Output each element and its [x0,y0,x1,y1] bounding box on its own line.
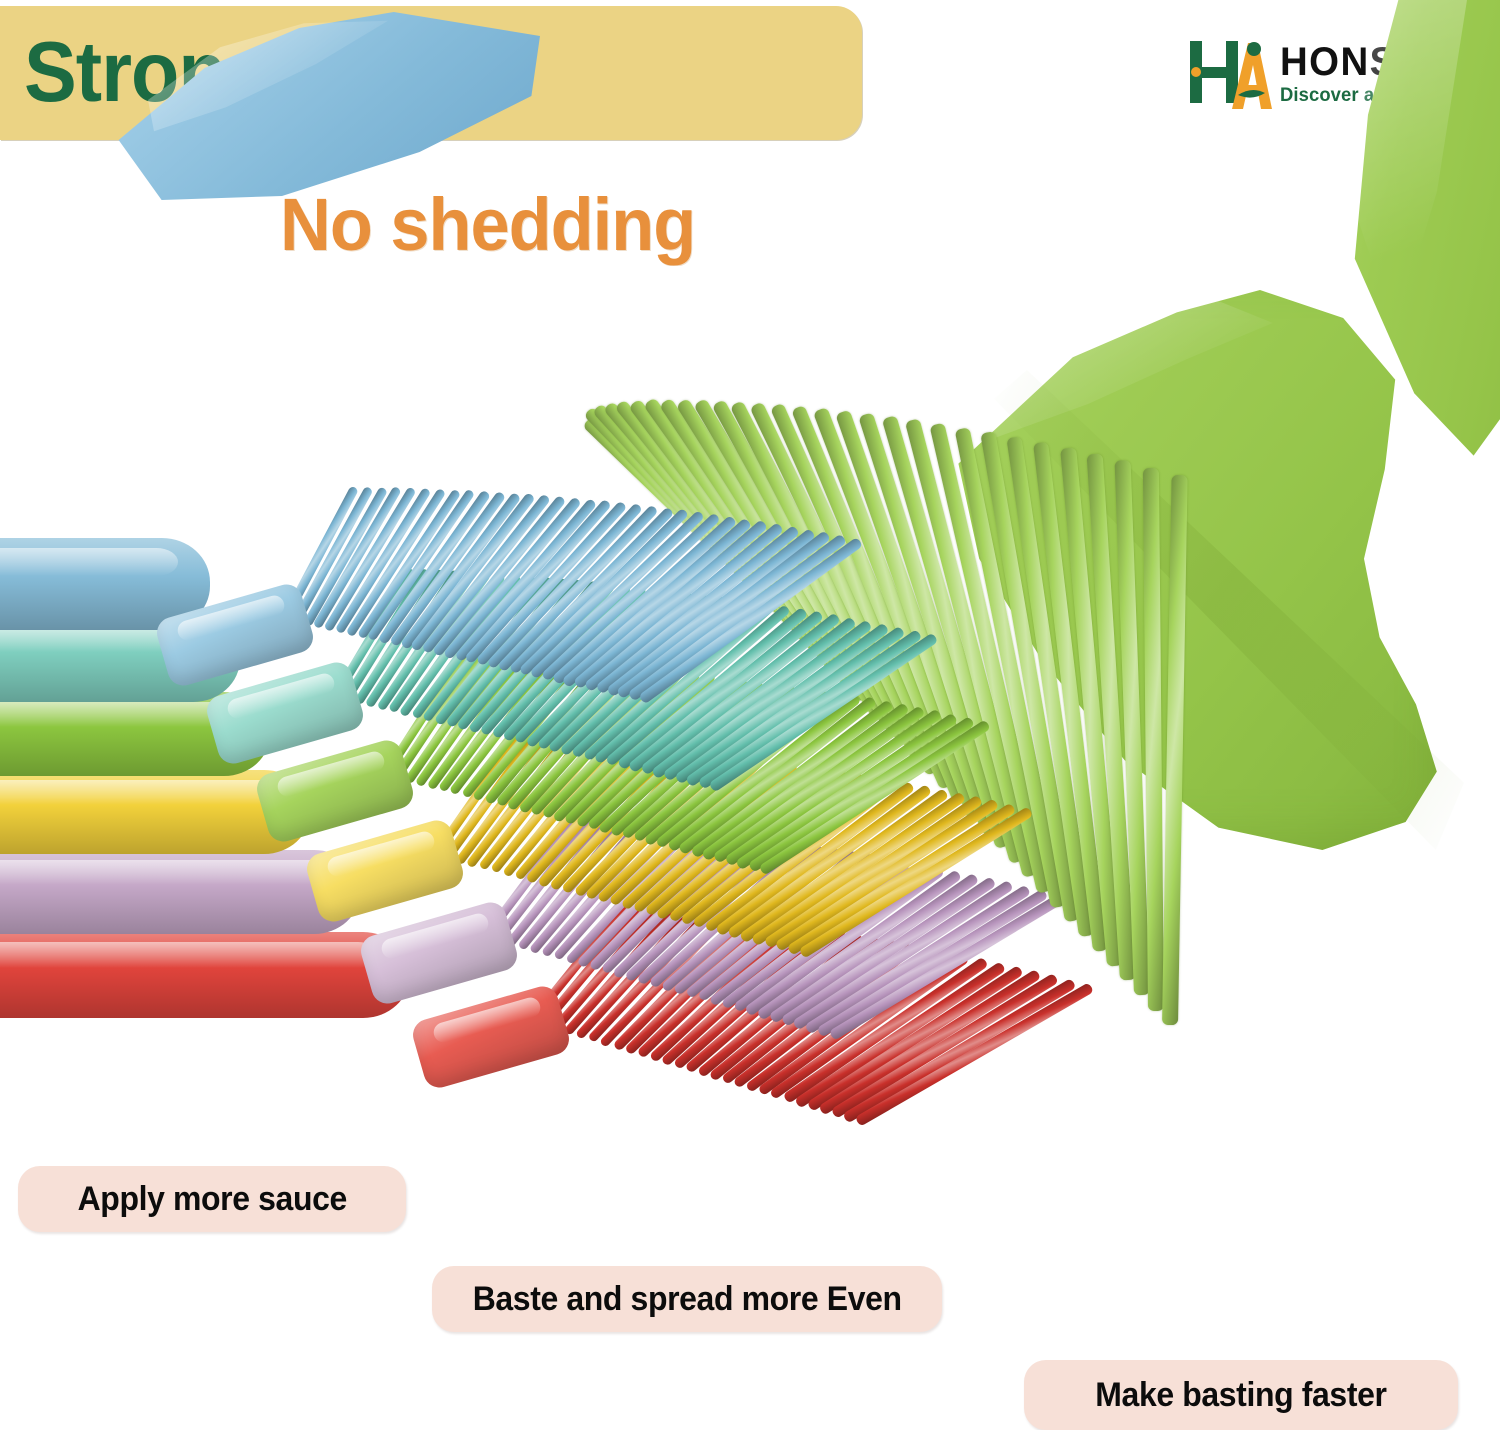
callout-pill-baste-and-spread: Baste and spread more Even [432,1266,942,1332]
callout-pill-apply-more-sauce: Apply more sauce [18,1166,406,1232]
brush-stack-layer [0,520,780,1170]
honsva-ha-monogram-icon [1186,35,1272,113]
callout-label: Baste and spread more Even [473,1280,902,1319]
subtitle-text: No shedding [280,185,695,265]
brush-bristle-bundle [280,580,660,730]
callout-label: Make basting faster [1095,1376,1386,1415]
product-infographic-canvas: Strong Bristle No shedding HONSVA Disco [0,0,1500,1430]
callout-label: Apply more sauce [77,1180,346,1219]
callout-pill-make-basting-faster: Make basting faster [1024,1360,1458,1430]
stacked-silicone-basting-brushes [0,520,780,1170]
